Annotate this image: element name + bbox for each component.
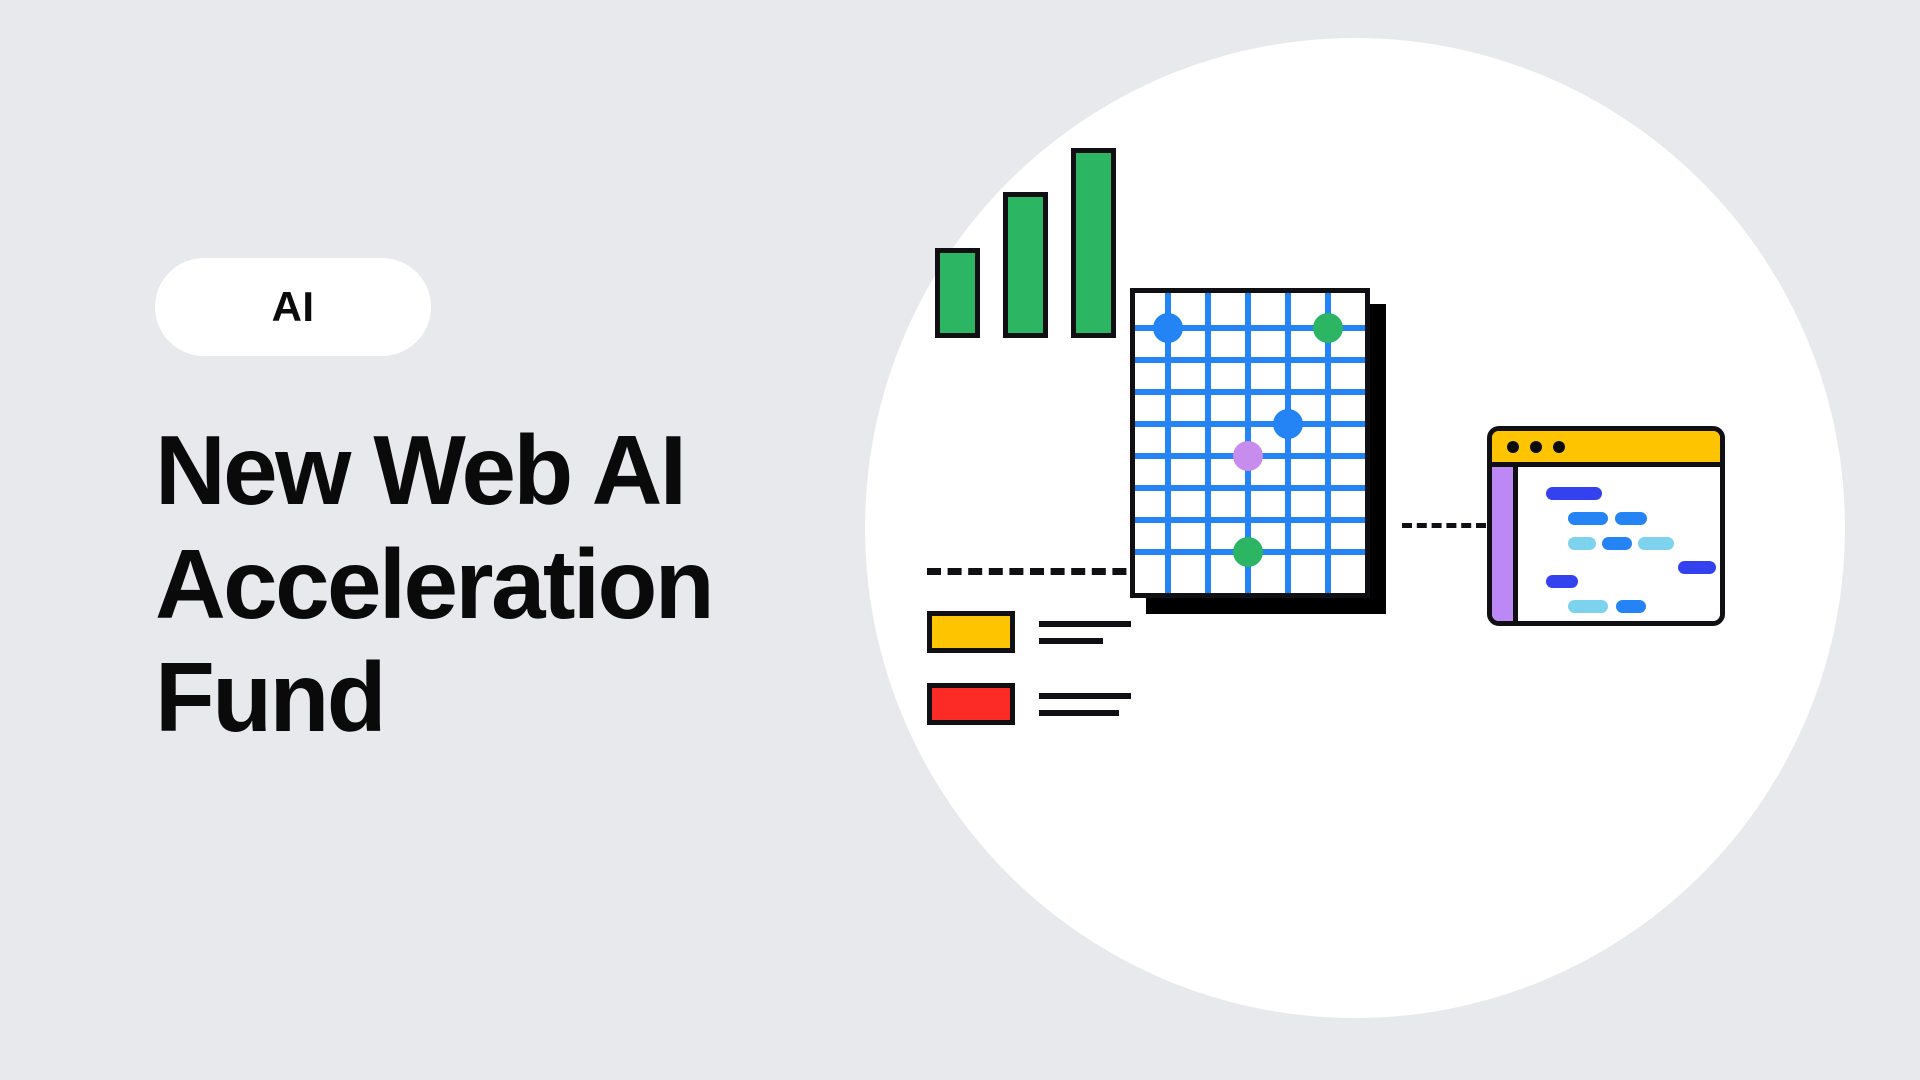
code-window-canvas — [1518, 467, 1720, 621]
scatter-point-blue-2 — [1273, 409, 1303, 439]
scatter-panel — [1130, 288, 1370, 598]
gridline-vertical — [1205, 293, 1211, 593]
dashed-divider — [927, 568, 1147, 575]
traffic-light-icon[interactable] — [1507, 441, 1519, 453]
code-token — [1602, 537, 1632, 550]
code-token — [1568, 512, 1608, 525]
gridline-horizontal — [1135, 357, 1365, 363]
legend-swatch-red — [927, 683, 1015, 725]
legend-text-lines-yellow — [1039, 621, 1131, 644]
scatter-point-blue-1 — [1153, 313, 1183, 343]
scatter-point-green-2 — [1233, 537, 1263, 567]
bar-chart-bar-3 — [1071, 148, 1116, 338]
page-title: New Web AI Acceleration Fund — [155, 414, 795, 755]
page-title-line-3: Fund — [155, 641, 795, 755]
scatter-point-purple — [1233, 441, 1263, 471]
code-token — [1630, 624, 1660, 626]
scatter-point-green-1 — [1313, 313, 1343, 343]
hero-banner: AI New Web AI Acceleration Fund — [0, 0, 1920, 1080]
bar-chart-bar-2 — [1003, 192, 1048, 338]
code-window-body — [1492, 467, 1720, 621]
code-token — [1568, 537, 1596, 550]
illustration-art — [865, 38, 1845, 1018]
legend-line — [1039, 621, 1131, 627]
code-window-titlebar — [1492, 431, 1720, 467]
code-token — [1568, 624, 1622, 626]
traffic-light-icon[interactable] — [1530, 441, 1542, 453]
code-window — [1487, 426, 1725, 626]
dashed-connector — [1402, 523, 1486, 528]
text-column: AI New Web AI Acceleration Fund — [155, 258, 855, 821]
gridline-horizontal — [1135, 389, 1365, 395]
code-token — [1546, 487, 1602, 500]
code-token — [1616, 600, 1646, 613]
legend-line — [1039, 693, 1131, 699]
legend-swatch-yellow — [927, 611, 1015, 653]
legend-line — [1039, 710, 1119, 716]
category-badge[interactable]: AI — [155, 258, 431, 356]
code-token — [1638, 537, 1674, 550]
page-title-line-2: Acceleration — [155, 528, 795, 642]
code-token — [1546, 575, 1578, 588]
gridline-horizontal — [1135, 485, 1365, 491]
code-window-sidebar — [1492, 467, 1518, 621]
gridline-horizontal — [1135, 421, 1365, 427]
category-badge-label: AI — [272, 286, 315, 328]
code-token — [1568, 600, 1608, 613]
legend-text-lines-red — [1039, 693, 1131, 716]
gridline-vertical — [1285, 293, 1291, 593]
legend-item-yellow — [927, 611, 1131, 653]
gridline-horizontal — [1135, 517, 1365, 523]
page-title-line-1: New Web AI — [155, 414, 795, 528]
code-token — [1615, 512, 1647, 525]
hero-illustration — [865, 38, 1845, 1018]
legend-item-red — [927, 683, 1131, 725]
traffic-light-icon[interactable] — [1553, 441, 1565, 453]
bar-chart-bar-1 — [935, 248, 980, 338]
code-token — [1678, 561, 1716, 574]
legend-line — [1039, 638, 1103, 644]
